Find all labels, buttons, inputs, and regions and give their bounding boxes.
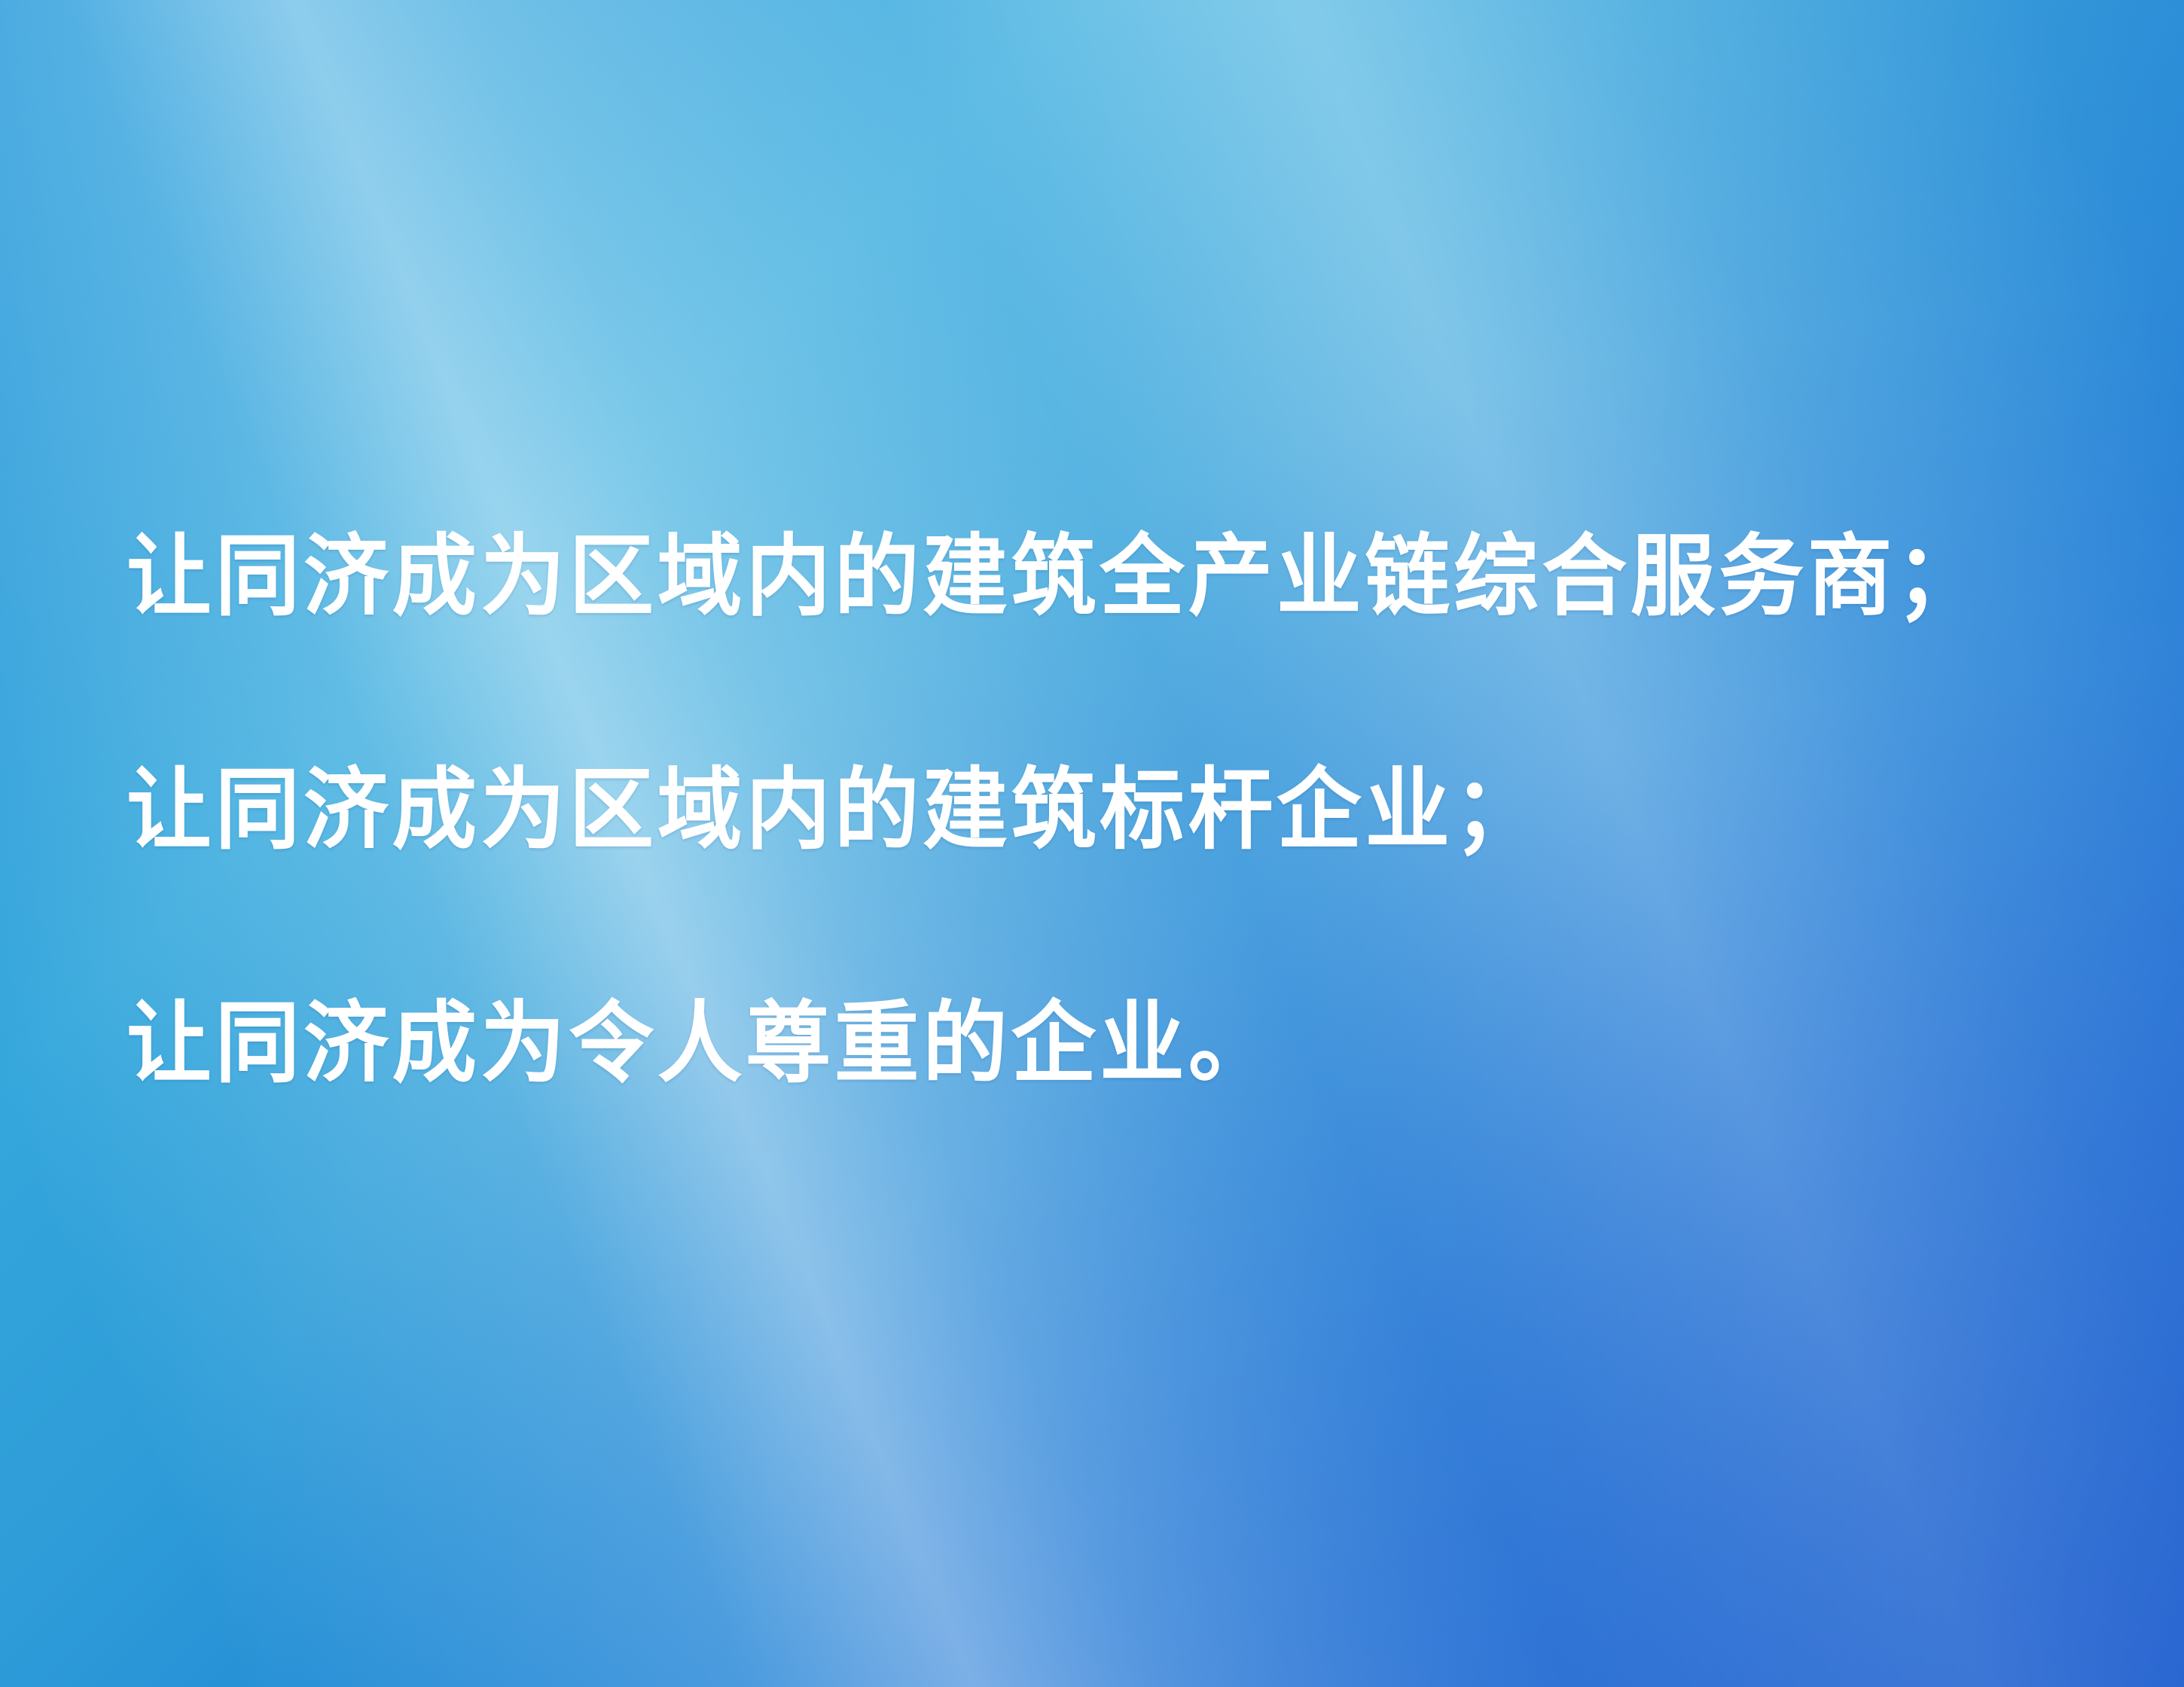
slide-canvas: 让同济成为区域内的建筑全产业链综合服务商； 让同济成为区域内的建筑标杆企业； 让… [0, 0, 2184, 1687]
vision-line-2: 让同济成为区域内的建筑标杆企业； [127, 694, 1996, 928]
vision-line-3: 让同济成为令人尊重的企业。 [127, 928, 1996, 1161]
vision-statement-block: 让同济成为区域内的建筑全产业链综合服务商； 让同济成为区域内的建筑标杆企业； 让… [127, 461, 2085, 1161]
vision-line-1: 让同济成为区域内的建筑全产业链综合服务商； [127, 461, 1996, 694]
